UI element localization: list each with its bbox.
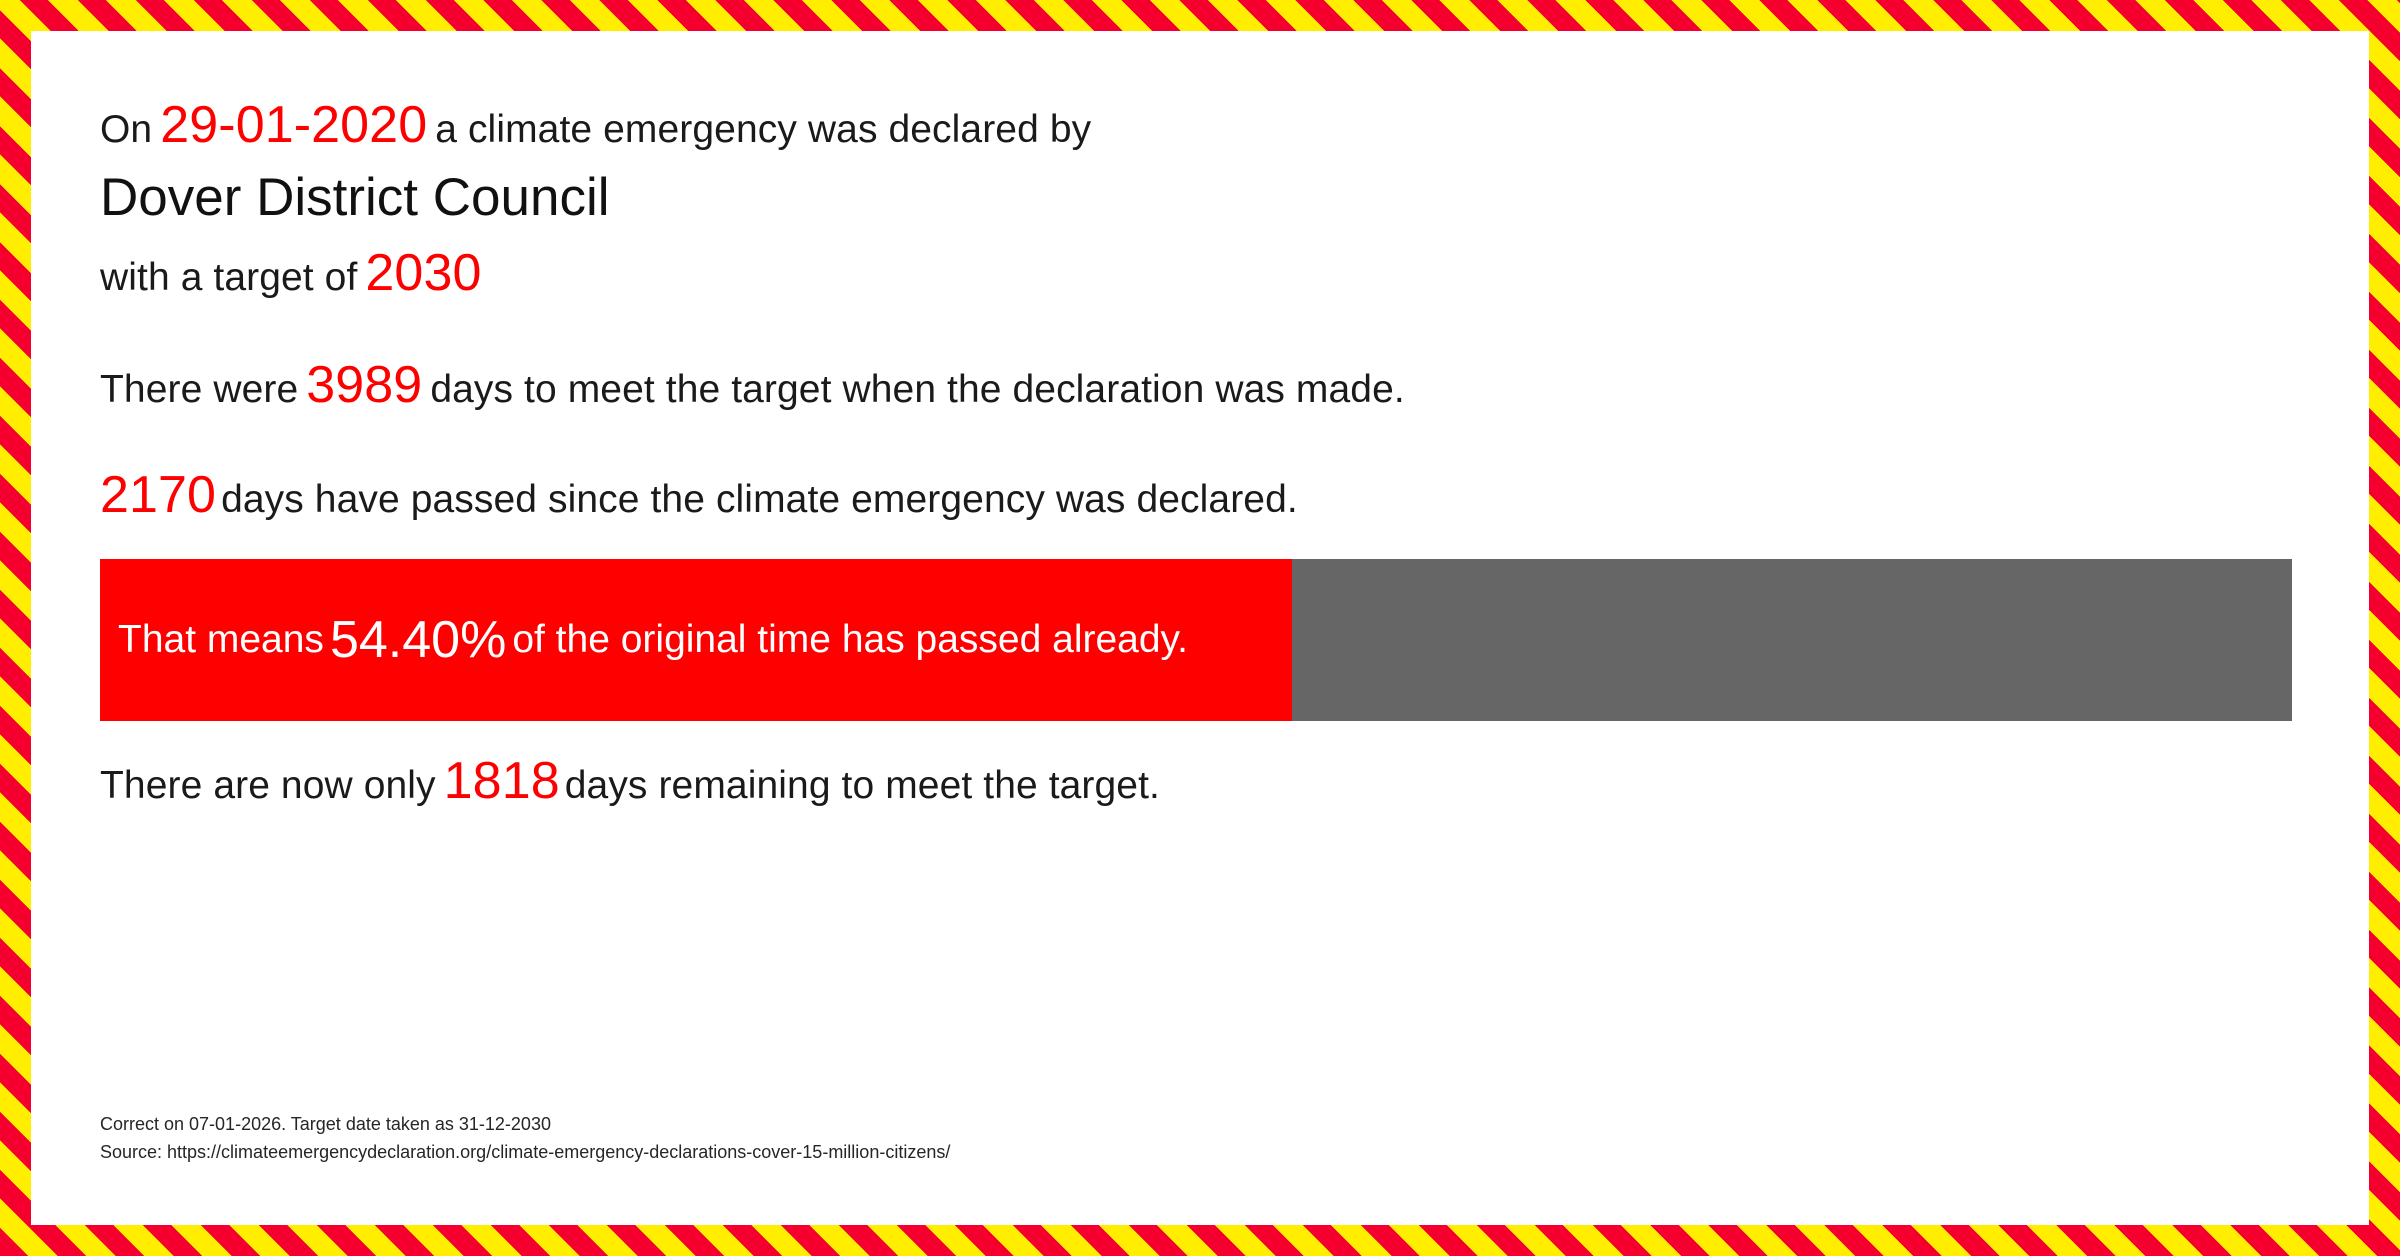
target-line: with a target of2030 <box>100 247 2331 305</box>
original-days-prefix: There were <box>100 368 298 411</box>
card-inner-panel: On29-01-2020a climate emergency was decl… <box>31 31 2369 1225</box>
footer-correct-on: Correct on 07-01-2026. Target date taken… <box>100 1111 950 1139</box>
declaration-date: 29-01-2020 <box>160 96 427 154</box>
target-year: 2030 <box>365 244 481 302</box>
progress-label-prefix: That means <box>118 618 324 662</box>
remaining-days-line: There are now only1818days remaining to … <box>100 755 2331 813</box>
card-content: On29-01-2020a climate emergency was decl… <box>100 61 2331 1225</box>
progress-bar: That means54.40%of the original time has… <box>100 559 2292 721</box>
declaration-suffix: a climate emergency was declared by <box>435 108 1091 151</box>
climate-emergency-card: On29-01-2020a climate emergency was decl… <box>0 0 2400 1256</box>
progress-label-suffix: of the original time has passed already. <box>512 618 1188 662</box>
progress-bar-label: That means54.40%of the original time has… <box>100 559 2292 721</box>
progress-percent: 54.40% <box>324 610 512 670</box>
elapsed-days-line: 2170days have passed since the climate e… <box>100 469 2331 527</box>
footer-source: Source: https://climateemergencydeclarat… <box>100 1139 950 1167</box>
remaining-days-suffix: days remaining to meet the target. <box>565 764 1160 807</box>
council-name: Dover District Council <box>100 171 2331 237</box>
remaining-days-value: 1818 <box>444 752 560 810</box>
original-days-value: 3989 <box>306 356 422 414</box>
original-days-line: There were3989days to meet the target wh… <box>100 359 2331 417</box>
elapsed-days-suffix: days have passed since the climate emerg… <box>221 478 1298 521</box>
remaining-days-prefix: There are now only <box>100 764 436 807</box>
original-days-suffix: days to meet the target when the declara… <box>430 368 1404 411</box>
footer: Correct on 07-01-2026. Target date taken… <box>100 1111 950 1167</box>
target-prefix: with a target of <box>100 256 357 299</box>
elapsed-days-value: 2170 <box>100 466 216 524</box>
declaration-prefix: On <box>100 108 152 151</box>
declaration-line: On29-01-2020a climate emergency was decl… <box>100 99 2331 159</box>
